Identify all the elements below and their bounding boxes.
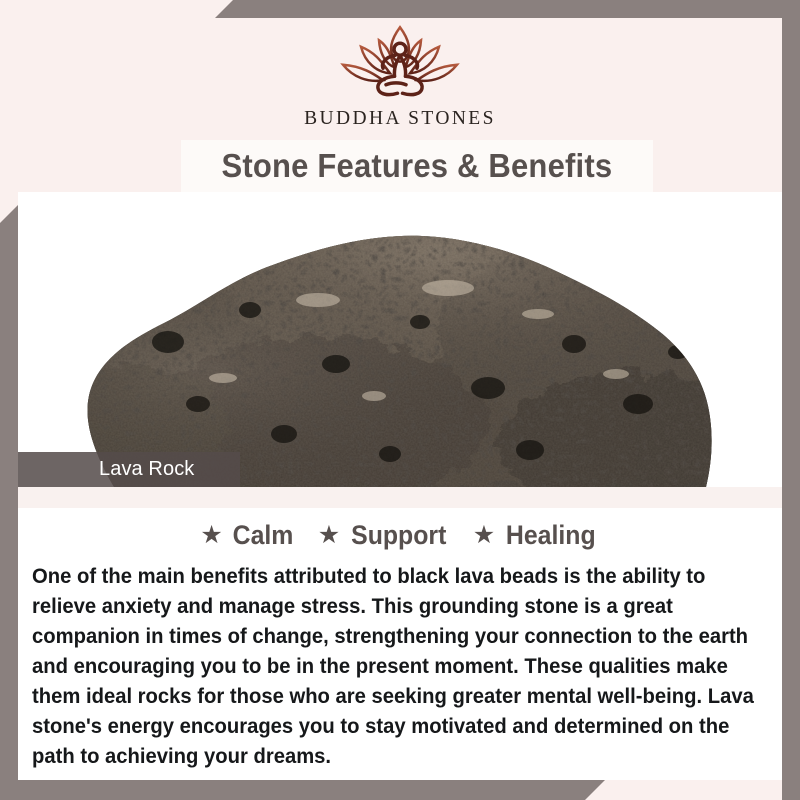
page-title: Stone Features & Benefits bbox=[222, 147, 613, 185]
frame-band-right bbox=[782, 0, 800, 800]
header: BUDDHA STONES Stone Features & Benefits bbox=[18, 0, 782, 192]
benefit-label-healing: Healing bbox=[506, 520, 596, 551]
benefits-row: ★ Calm ★ Support ★ Healing bbox=[18, 508, 782, 551]
benefit-item-support: ★ Support bbox=[318, 520, 451, 551]
content-panel: ★ Calm ★ Support ★ Healing One of the ma… bbox=[18, 508, 782, 780]
star-icon: ★ bbox=[200, 523, 222, 548]
frame-band-left bbox=[0, 205, 18, 800]
title-band: Stone Features & Benefits bbox=[181, 140, 653, 192]
photo-caption-bar: Lava Rock bbox=[18, 452, 240, 487]
benefit-item-calm: ★ Calm bbox=[200, 520, 295, 551]
photo-caption-label: Lava Rock bbox=[18, 458, 194, 481]
benefit-label-support: Support bbox=[351, 520, 446, 551]
lotus-meditation-icon bbox=[325, 18, 475, 106]
lava-rock-photo bbox=[18, 192, 782, 487]
star-icon: ★ bbox=[318, 523, 340, 548]
benefit-label-calm: Calm bbox=[232, 520, 293, 551]
brand-logo: BUDDHA STONES bbox=[18, 18, 782, 130]
star-icon: ★ bbox=[473, 523, 495, 548]
divider-strip bbox=[18, 487, 782, 508]
frame-band-bottom bbox=[0, 780, 605, 800]
description-paragraph: One of the main benefits attributed to b… bbox=[32, 561, 775, 771]
poster-root: BUDDHA STONES Stone Features & Benefits bbox=[0, 0, 800, 800]
brand-name: BUDDHA STONES bbox=[304, 108, 496, 130]
benefit-item-healing: ★ Healing bbox=[473, 520, 600, 551]
